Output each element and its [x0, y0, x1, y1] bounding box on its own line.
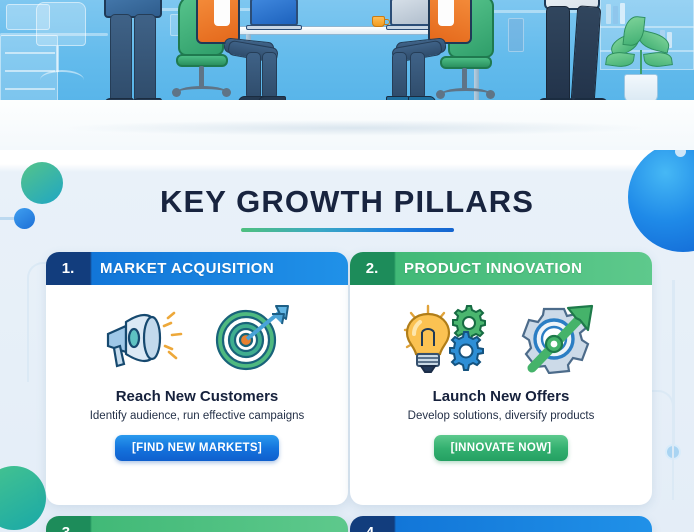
pillar-card-market-acquisition[interactable]: 1. MARKET ACQUISITION	[46, 252, 348, 505]
page-title: KEY GROWTH PILLARS	[0, 186, 694, 217]
card-body: Reach New Customers Identify audience, r…	[46, 285, 348, 505]
megaphone-icon	[96, 302, 188, 374]
card-header: 4.	[350, 516, 652, 532]
title-underline	[241, 228, 454, 232]
card-icons	[350, 285, 652, 390]
card-title: PRODUCT INNOVATION	[394, 260, 582, 277]
background-office-chair	[36, 2, 86, 46]
card-icons	[46, 285, 348, 390]
office-wall	[0, 0, 694, 106]
find-new-markets-button[interactable]: [FIND NEW MARKETS]	[115, 435, 279, 461]
innovate-now-button[interactable]: [INNOVATE NOW]	[434, 435, 569, 461]
pillar-card-four[interactable]: 4.	[350, 516, 652, 532]
gear-growth-arrow-icon	[512, 302, 604, 374]
card-header: 1. MARKET ACQUISITION	[46, 252, 348, 285]
card-description: Develop solutions, diversify products	[408, 410, 595, 422]
card-body: Launch New Offers Develop solutions, div…	[350, 285, 652, 505]
pillar-card-three[interactable]: 3.	[46, 516, 348, 532]
card-header: 2. PRODUCT INNOVATION	[350, 252, 652, 285]
target-arrow-icon	[206, 302, 298, 374]
card-subtitle: Launch New Offers	[433, 388, 570, 405]
card-number: 1.	[46, 260, 90, 277]
card-title: MARKET ACQUISITION	[90, 260, 274, 277]
section-heading: KEY GROWTH PILLARS	[0, 186, 694, 232]
hero-illustration	[0, 0, 694, 150]
lightbulb-gears-icon	[398, 302, 494, 374]
card-number: 2.	[350, 260, 394, 277]
pillar-card-product-innovation[interactable]: 2. PRODUCT INNOVATION	[350, 252, 652, 505]
card-subtitle: Reach New Customers	[116, 388, 279, 405]
green-gradient-circle-bottom-left-icon	[0, 466, 46, 530]
card-number: 4.	[350, 524, 394, 532]
card-description: Identify audience, run effective campaig…	[90, 410, 305, 422]
card-header: 3.	[46, 516, 348, 532]
key-growth-pillars-section: KEY GROWTH PILLARS 1. MARKET ACQUISITION	[0, 150, 694, 532]
card-number: 3.	[46, 524, 90, 532]
